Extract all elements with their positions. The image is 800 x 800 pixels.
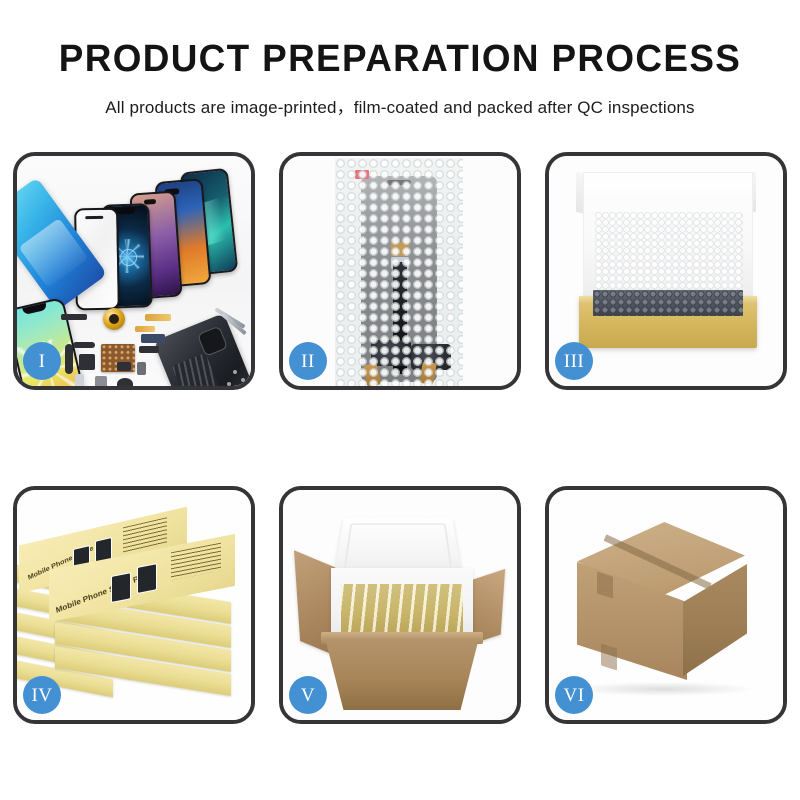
camera-module-icon <box>103 308 125 330</box>
spare-part <box>75 374 84 386</box>
screw <box>227 382 231 386</box>
bubble-texture <box>335 158 463 386</box>
screw <box>241 378 245 382</box>
spare-part <box>61 314 87 320</box>
process-step-grid: I II <box>13 152 787 724</box>
step-badge-4: IV <box>23 676 61 714</box>
spare-part <box>79 354 95 370</box>
flex-cable <box>141 334 165 343</box>
yellow-retail-boxes-inside <box>341 584 463 636</box>
flex-cable <box>135 326 155 332</box>
box-artwork-phone <box>137 563 157 594</box>
step-badge-3: III <box>555 342 593 380</box>
process-step-2: II <box>279 152 521 390</box>
page-subtitle: All products are image-printed，film-coat… <box>0 93 800 118</box>
box-feature-list <box>171 543 221 581</box>
step-badge-6: VI <box>555 676 593 714</box>
foam-sheet <box>595 212 743 296</box>
step-badge-5: V <box>289 676 327 714</box>
spare-part <box>117 378 133 386</box>
process-step-1: I <box>13 152 255 390</box>
flex-cable <box>145 314 171 321</box>
spare-part <box>137 362 146 375</box>
screw <box>233 370 237 374</box>
drop-shadow <box>573 682 753 696</box>
process-step-5: V <box>279 486 521 724</box>
notch <box>115 208 135 215</box>
carton-body <box>325 638 479 710</box>
bubble-wrapped-contents <box>593 290 743 316</box>
process-step-4: Mobile Phone Spare Parts Mobile Phone Sp… <box>13 486 255 724</box>
step-badge-1: I <box>23 342 61 380</box>
spare-part <box>117 362 131 371</box>
bubble-wrap-bag <box>335 158 463 386</box>
product-preparation-infographic: PRODUCT PREPARATION PROCESS All products… <box>0 0 800 800</box>
process-step-3: III <box>545 152 787 390</box>
notch <box>22 303 47 315</box>
box-artwork-phone <box>111 572 131 603</box>
header: PRODUCT PREPARATION PROCESS All products… <box>0 0 800 118</box>
flex-cable <box>65 344 73 374</box>
page-title: PRODUCT PREPARATION PROCESS <box>12 38 788 81</box>
step-badge-2: II <box>289 342 327 380</box>
spare-part <box>73 342 95 348</box>
spare-part <box>139 346 159 353</box>
process-step-6: VI <box>545 486 787 724</box>
earpiece-slot <box>85 216 103 219</box>
spare-part <box>95 376 107 386</box>
